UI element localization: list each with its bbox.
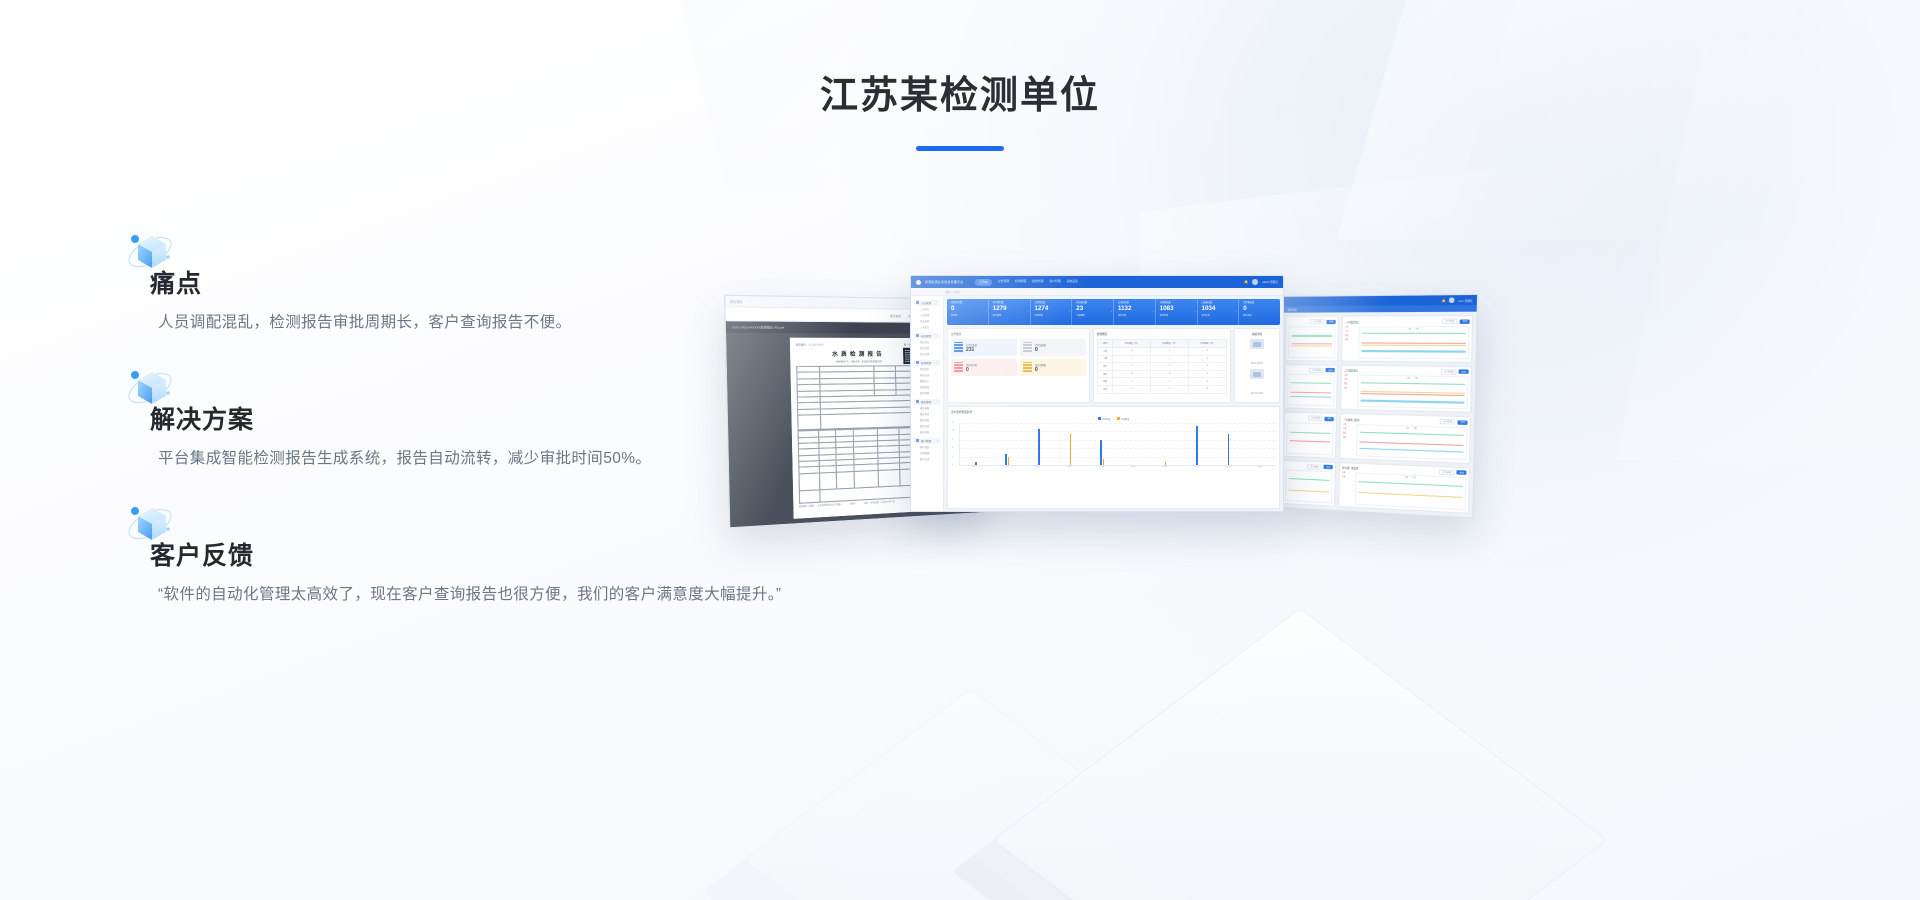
kpi-card[interactable]: 待出报告数 23 已超期数 › [1072,299,1114,325]
kpi-card[interactable]: 已检样品数 1274 含复检数 › [1031,299,1073,325]
section-title: 客户反馈 [150,522,810,572]
table-row: 固废220 [1098,378,1227,386]
section-title: 解决方案 [150,386,810,436]
sidebar-group-testing[interactable]: 检测管理▾ 检测任务 原始记录 数据录入 结果审核 质控管理 [911,358,943,397]
x-tick: 06-11 [991,466,1023,468]
mini-line-chart [1286,422,1334,455]
monitoring-mini-card[interactable]: 近7天数据查询 [1282,459,1336,506]
chart-legend: 上限下限 [1406,377,1417,379]
range-select[interactable]: 近7天数据 [1308,415,1323,421]
line-chart: 上限下限 [1358,326,1470,359]
chart-legend: 上限下限 [1404,477,1415,480]
monitoring-card[interactable]: 一号线监测点 近7天数据 查询 上限下限均值当前 上限下限 [1341,315,1473,362]
kpi-sub: 报告退回 [1243,314,1276,317]
kpi-sub: 待处理 [951,314,984,317]
nav-item-customer[interactable]: 客户管理 [1049,279,1060,286]
table-header-row: 类别 委托数量（件） 完成数量（件） 不合格数（件） [1098,340,1227,348]
card-title: 三号线排口监测 [1343,417,1359,422]
sidebar-group-report[interactable]: 报告管理▾ 报告编制 报告审核 报告签发 报告发放 报告归档 [911,397,943,436]
x-tick: 06-17 [1181,466,1213,468]
chevron-right-icon: › [986,309,987,313]
product-screenshot-group: 报告预览 报告查询 报告审核 报告签发 报告归档 报告下载 JSJC-2023-… [750,255,1910,585]
legend-entry: 完成数量 [1117,417,1130,421]
empty-state: 暂无待办事项 [1250,369,1264,399]
chart-legend: 上限下限 [1405,427,1416,430]
sidebar-item[interactable]: 入库统计 [914,324,940,330]
doc-title: 水质检测报告 [796,350,919,358]
table-header-cell: 委托数量（件） [1113,340,1151,348]
kpi-label: 待办任务数 [951,302,984,305]
kpi-label: 本月委托数 [993,302,1026,305]
card-title: 一号线监测点 [1345,319,1359,323]
section-body: 平台集成智能检测报告生成系统，报告自动流转，减少审批时间50%。 [158,444,808,474]
threshold-tags: 上限下限均值当前 [1344,326,1356,358]
table-row: 噪声12100 [1098,370,1227,378]
breadcrumb: 首页 / 工作台 [911,288,1283,296]
page-title: 江苏某检测单位 [0,74,1920,120]
kpi-value: 23 [1076,305,1109,314]
stat-label: 在用设备数 [966,343,977,347]
section-solution: 解决方案 平台集成智能检测报告生成系统，报告自动流转，减少审批时间50%。 [150,386,810,474]
device-icon [954,342,963,353]
query-button[interactable]: 查询 [1326,368,1335,372]
y-tick: 3 [952,456,953,458]
panel-trend-chart: 近30天检测量趋势 委托数量 完成数量 0 3 6 9 12 15 [947,406,1280,509]
title-accent-bar [916,146,1004,151]
line-chart: 上限下限 [1355,472,1466,510]
sidebar-item[interactable]: 样品处置 [914,351,940,357]
kpi-label: 已审报告数 [1160,302,1193,305]
kpi-card[interactable]: 异常报告数 0 报告退回 [1239,299,1280,325]
card-title: 四号线厂界监测 [1342,465,1358,470]
bell-icon[interactable]: 🔔 [1442,298,1446,302]
query-button[interactable]: 查询 [1327,319,1336,323]
panel-title: 检测概况 [1097,332,1227,336]
section-customer-feedback: 客户反馈 “软件的自动化管理太高效了，现在客户查询报告也很方便，我们的客户满意度… [150,522,810,610]
menu-icon [916,301,919,304]
stat-card[interactable]: 超期未检数0 [951,359,1017,376]
y-tick: 15 [952,422,954,424]
x-tick: 06-18 [1213,466,1245,468]
sidebar-group-acceptance[interactable]: 入库管理▾ 入库登记 入库查询 样品接收 入库统计 [911,298,943,331]
kpi-value: 1034 [1202,305,1235,314]
device-icon [954,362,963,373]
monitoring-mini-card[interactable]: 近7天数据查询 [1284,364,1338,410]
sidebar-group-sample[interactable]: 样品管理▾ 样品登记 样品流转 样品处置 [911,331,943,358]
y-tick: 0 [952,464,953,466]
chevron-right-icon: › [1069,309,1070,313]
page-header: 江苏某检测单位 [0,74,1920,151]
kpi-value: 0 [951,305,984,314]
threshold-tags: 上限下限均值当前 [1342,423,1354,456]
panel-title: 系统消息 [1252,332,1262,336]
line-chart: 上限下限 [1357,375,1469,410]
y-tick: 9 [952,439,953,441]
sidebar-group-label: 入库管理 [921,301,931,305]
pdf-page: 报告编号：JC-2023-0001 第 1 页 共 2 页 水质检测报告 （本报… [790,338,928,519]
chevron-down-icon: ▾ [937,335,938,337]
x-tick: 06-19 [1244,466,1276,468]
sidebar-item[interactable]: 质控管理 [914,390,940,396]
table-row: 水质330 [1098,348,1227,356]
empty-state-text: 暂无未读消息 [1251,363,1263,365]
sidebar-group-label: 样品管理 [921,334,931,338]
card-title: 二号线监测点 [1344,368,1358,372]
panel-system-messages: 系统消息 暂无未读消息 暂无待办事项 [1234,328,1280,403]
sidebar-group-customer[interactable]: 客户管理▾ 客户档案 合同管理 客户回访 [911,436,943,463]
chevron-right-icon: › [1195,309,1196,313]
mini-line-chart [1285,469,1333,503]
brand-logo-icon [916,280,921,285]
x-tick: 06-10 [959,466,991,468]
range-select[interactable]: 近7天数据 [1440,419,1456,425]
monitoring-card[interactable]: 四号线厂界监测 近7天数据 查询 上限下限 上限下限 [1338,462,1470,514]
range-select[interactable]: 近7天数据 [1307,463,1322,469]
kpi-label: 已出报告数 [1118,302,1151,305]
table-header-cell: 不合格数（件） [1189,340,1227,348]
chevron-right-icon: › [1153,309,1154,313]
kpi-card[interactable]: 已出报告数 1132 报告总数 › [1114,299,1156,325]
legend-entry: 委托数量 [1098,417,1111,421]
x-tick: 06-12 [1022,466,1054,468]
table-row: 其他550 [1098,385,1227,393]
stat-card[interactable]: 停用设备数0 [1020,339,1086,356]
doc-header-left: 报告编号：JC-2023-0001 [796,342,824,347]
mini-line-chart [1287,374,1335,407]
sidebar-group-label: 检测管理 [921,361,931,365]
kpi-label: 已发报告数 [1202,302,1235,305]
chart-legend: 委托数量 完成数量 [951,417,1276,421]
chevron-right-icon: › [1236,309,1237,313]
chevron-down-icon: ▾ [937,440,938,442]
sidebar-group-label: 报告管理 [921,400,931,404]
kpi-card[interactable]: 待办任务数 0 待处理 › [947,299,989,325]
kpi-sub: 报告发放 [1202,314,1235,317]
kpi-sub: 含复检数 [1035,314,1068,317]
mini-line-chart [1288,326,1336,358]
monitoring-mini-card[interactable]: 近7天数据查询 [1285,316,1339,361]
panel-title: 业务统计 [951,332,1086,336]
query-button[interactable]: 查询 [1325,416,1334,420]
chart-title: 近30天检测量趋势 [951,410,1276,414]
chevron-right-icon: › [1028,309,1029,313]
doc-result-table [798,427,923,504]
overview-table: 类别 委托数量（件） 完成数量（件） 不合格数（件） 水质330 土壤110 废… [1097,339,1227,394]
menu-icon [916,361,919,364]
table-header-cell: 类别 [1098,340,1113,348]
threshold-tags: 上限下限均值当前 [1343,374,1355,406]
user-name[interactable]: admin 管理员 [1262,280,1278,284]
query-button[interactable]: 查询 [1457,470,1467,475]
x-tick: 06-14 [1086,466,1118,468]
menu-icon [916,439,919,442]
section-body: “软件的自动化管理太高效了，现在客户查询报告也很方便，我们的客户满意度大幅提升。… [158,580,798,610]
monitoring-main-column: 一号线监测点 近7天数据 查询 上限下限均值当前 上限下限 二号线监测 [1338,315,1473,514]
sidebar-item[interactable]: 报告归档 [914,429,940,435]
stat-value: 231 [966,347,977,353]
kpi-strip: 待办任务数 0 待处理 › 本月委托数 1279 累计受理 › 已检样品数 12… [947,299,1280,325]
kpi-value: 1083 [1160,305,1193,314]
empty-box-icon [1250,369,1264,379]
kpi-label: 待出报告数 [1076,302,1109,305]
empty-state: 暂无未读消息 [1250,339,1264,369]
chart-legend: 上限下限 [1407,328,1418,330]
panel-business-stats: 业务统计 在用设备数231 停用设备数0 [947,328,1090,403]
kpi-sub: 已超期数 [1076,314,1109,317]
kpi-sub: 报告审核 [1160,314,1193,317]
stat-label: 停用设备数 [1035,343,1046,347]
chevron-down-icon: ▾ [937,401,938,403]
device-icon [1023,362,1032,373]
doc-info-table [796,365,920,430]
stat-value: 0 [1035,347,1046,353]
breadcrumb-text: 监控大屏 [1288,307,1297,311]
stat-label: 临近到期数 [1035,363,1046,367]
kpi-card[interactable]: 已发报告数 1034 报告发放 › [1198,299,1240,325]
monitoring-side-column: 近7天数据查询 近7天数据查询 近7天数据查询 [1282,316,1339,507]
query-button[interactable]: 查询 [1458,420,1468,425]
kpi-card[interactable]: 已审报告数 1083 报告审核 › [1156,299,1198,325]
screenshot-monitoring-board[interactable]: 🔔 admin 管理员 监控大屏 近7天数据查询 近7天数据查询 [1278,294,1478,519]
range-select[interactable]: 近7天数据 [1310,319,1325,324]
doc-subtitle: （本报告共2页，涂改无效，未盖检测专用章无效） [796,360,919,364]
dashboard-topbar: 智慧检测业务综合管理平台 工作台 业务受理 检测管理 报告管理 客户管理 系统设… [911,276,1283,288]
breadcrumb-text: 首页 / 工作台 [945,290,960,294]
query-button[interactable]: 查询 [1460,319,1470,323]
y-tick: 6 [952,447,953,449]
stat-card[interactable]: 在用设备数231 [951,339,1017,356]
screenshot-dashboard[interactable]: 智慧检测业务综合管理平台 工作台 业务受理 检测管理 报告管理 客户管理 系统设… [910,275,1284,512]
section-pain-point: 痛点 人员调配混乱，检测报告审批周期长，客户查询报告不便。 [150,250,810,338]
nav-item-settings[interactable]: 系统设置 [1067,279,1078,286]
stat-value: 0 [966,367,977,373]
avatar[interactable] [1252,279,1258,285]
x-tick: 06-13 [1054,466,1086,468]
table-header-cell: 完成数量（件） [1151,340,1189,348]
empty-box-icon [1250,339,1264,349]
nav-item-acceptance[interactable]: 业务受理 [998,279,1009,286]
section-body: 人员调配混乱，检测报告审批周期长，客户查询报告不便。 [158,308,808,338]
chevron-down-icon: ▾ [937,362,938,364]
kpi-value: 0 [1243,305,1276,314]
isometric-podium [1020,650,1580,900]
avatar[interactable] [1449,298,1454,303]
menu-icon [916,334,919,337]
doc-tab[interactable]: 报告查询 [890,313,901,317]
bell-icon[interactable]: 🔔 [1244,280,1248,284]
dashboard-sidebar[interactable]: 入库管理▾ 入库登记 入库查询 样品接收 入库统计 样品管理▾ 样品登记 样品流… [911,296,944,512]
user-name[interactable]: admin 管理员 [1458,298,1473,303]
sidebar-group-label: 客户管理 [921,439,931,443]
monitoring-card[interactable]: 二号线监测点 近7天数据 查询 上限下限均值当前 上限下限 [1340,364,1472,413]
empty-state-text: 暂无待办事项 [1251,393,1263,395]
kpi-label: 异常报告数 [1243,302,1276,305]
chart-plot-area: 0 3 6 9 12 15 [959,423,1276,466]
nav-item-testing[interactable]: 检测管理 [1015,279,1026,286]
query-button[interactable]: 查询 [1324,465,1333,470]
pdf-file-name: JSJC-2023-XXXXXX检测报告-001.pdf [732,325,784,330]
kpi-sub: 累计受理 [993,314,1026,317]
content-sections: 痛点 人员调配混乱，检测报告审批周期长，客户查询报告不便。 解决方案 平台集成智… [150,250,810,611]
brand-name: 智慧检测业务综合管理平台 [925,280,963,284]
threshold-tags: 上限下限 [1341,472,1353,505]
range-select[interactable]: 近7天数据 [1441,369,1457,375]
device-icon [1023,342,1032,353]
chevron-down-icon: ▾ [937,302,938,304]
chevron-right-icon: › [1111,309,1112,313]
stat-value: 0 [1035,367,1046,373]
kpi-value: 1132 [1118,305,1151,314]
x-tick: 06-15 [1118,466,1150,468]
x-tick: 06-16 [1149,466,1181,468]
chart-x-axis: 06-10 06-11 06-12 06-13 06-14 06-15 06-1… [959,466,1276,468]
range-select[interactable]: 近7天数据 [1439,469,1455,475]
nav-item-workbench[interactable]: 工作台 [975,279,991,286]
panel-testing-overview: 检测概况 类别 委托数量（件） 完成数量（件） 不合格数（件） [1093,328,1231,403]
kpi-sub: 报告总数 [1118,314,1151,317]
menu-icon [916,400,919,403]
sidebar-item[interactable]: 客户回访 [914,456,940,462]
kpi-value: 1279 [993,305,1026,314]
section-title: 痛点 [150,250,810,300]
kpi-card[interactable]: 本月委托数 1279 累计受理 › [989,299,1031,325]
kpi-value: 1274 [1035,305,1068,314]
nav-item-report[interactable]: 报告管理 [1032,279,1043,286]
line-chart: 上限下限 [1356,424,1467,460]
kpi-label: 已检样品数 [1035,302,1068,305]
monitoring-card[interactable]: 三号线排口监测 近7天数据 查询 上限下限均值当前 上限下限 [1339,413,1471,463]
stat-card[interactable]: 临近到期数0 [1020,359,1086,376]
range-select[interactable]: 近7天数据 [1309,367,1324,372]
range-select[interactable]: 近7天数据 [1442,318,1458,324]
table-row: 废气330 [1098,363,1227,371]
monitoring-mini-card[interactable]: 近7天数据查询 [1283,412,1337,459]
table-row: 土壤110 [1098,355,1227,363]
dashboard-nav[interactable]: 工作台 业务受理 检测管理 报告管理 客户管理 系统设置 [975,279,1077,286]
y-tick: 12 [952,430,954,432]
stat-label: 超期未检数 [966,363,977,367]
query-button[interactable]: 查询 [1459,369,1469,374]
chart-bars [960,423,1276,465]
